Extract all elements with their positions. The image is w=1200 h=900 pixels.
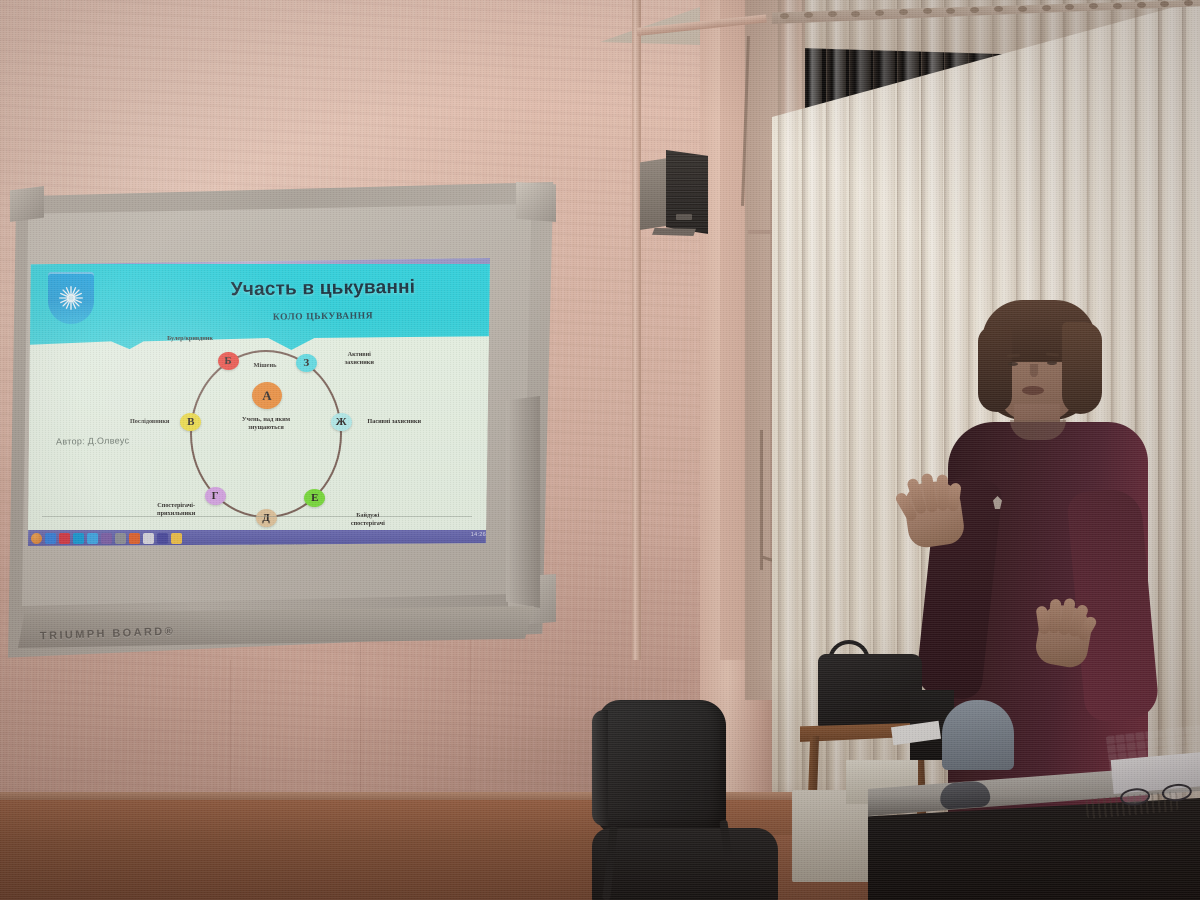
presentation-slide: Участь в цькуванні КОЛО ЦЬКУВАННЯ Автор:…	[28, 264, 490, 532]
presenter-eye-right	[1047, 361, 1057, 365]
blinds-hook	[875, 10, 884, 16]
presenter-eye-left	[1008, 362, 1018, 366]
diagram-label-Е: Байдужі спостерігачі	[339, 512, 397, 528]
blinds-hook	[804, 12, 813, 18]
diagram-node-Ж: Ж	[331, 413, 352, 431]
bullying-circle-diagram: ББулер/кривдникВПослідовникиГСпостерігач…	[148, 340, 388, 530]
slide-author: Автор: Д.Олвеус	[56, 435, 130, 446]
speaker-side-panel	[640, 158, 668, 230]
chair-seat	[592, 828, 778, 900]
app-icon-purple[interactable]	[101, 533, 112, 544]
presenter-mouth	[1022, 386, 1044, 395]
folder-icon[interactable]	[171, 533, 182, 544]
app-icon-indigo[interactable]	[157, 533, 168, 544]
speaker-mesh	[666, 150, 708, 234]
blinds-hook	[1113, 3, 1122, 9]
whiteboard-corner-top-right	[516, 182, 556, 222]
center-label-top: Мішень	[226, 362, 304, 370]
taskbar-clock: 14:26	[471, 532, 486, 538]
diagram-label-З: Активні захисники	[332, 351, 386, 367]
eyeglasses-lens-right	[1161, 782, 1193, 802]
school-emblem-logo	[48, 272, 94, 324]
blinds-hook	[780, 13, 789, 19]
edge-browser-icon[interactable]	[73, 533, 84, 544]
handbag[interactable]	[818, 654, 922, 730]
blind-slat	[778, 0, 798, 900]
diagram-node-center: А	[252, 382, 282, 409]
presenter-hair-right	[1062, 322, 1102, 414]
slide-footer-rule	[42, 516, 472, 517]
classroom-photo-scene: TRIUMPH BOARD®	[0, 0, 1200, 900]
app-icon-blue[interactable]	[45, 533, 56, 544]
slide-title: Участь в цькуванні	[178, 276, 468, 302]
taskbar-icons-group[interactable]	[31, 533, 182, 544]
cable	[760, 430, 763, 570]
chair-backrest	[598, 700, 726, 832]
wall-seam	[230, 660, 231, 800]
presenter-nose	[1030, 364, 1038, 377]
center-label-bottom: Учень, над яким знущаються	[227, 416, 305, 432]
eyeglasses-lens-left	[1119, 787, 1151, 807]
whiteboard-pen-tray[interactable]	[506, 396, 540, 608]
wall-speaker	[640, 150, 720, 235]
blinds-hook	[946, 8, 955, 14]
app-icon-red[interactable]	[59, 533, 70, 544]
app-icon-lightblue[interactable]	[87, 533, 98, 544]
whiteboard-corner-top-left	[10, 186, 44, 222]
diagram-label-Ж: Пасивні захисники	[367, 418, 421, 426]
diagram-label-Б: Булер/кривдник	[162, 335, 218, 343]
speaker-badge	[676, 214, 692, 220]
blinds-hook	[1018, 6, 1027, 12]
blinds-hook	[1042, 5, 1051, 11]
wall-conduit	[632, 0, 641, 660]
diagram-node-Д: Д	[256, 509, 277, 527]
wall-seam	[360, 640, 361, 800]
blinds-hook	[851, 11, 860, 17]
speaker-grille	[666, 150, 708, 234]
projected-screen[interactable]: Участь в цькуванні КОЛО ЦЬКУВАННЯ Автор:…	[28, 258, 490, 546]
app-icon-white[interactable]	[143, 533, 154, 544]
start-button[interactable]	[31, 533, 42, 544]
app-icon-orange[interactable]	[129, 533, 140, 544]
diagram-label-В: Послідовники	[121, 418, 179, 426]
diagram-node-Е: Е	[304, 489, 325, 507]
blinds-hook	[1137, 2, 1146, 8]
diagram-node-Г: Г	[205, 487, 226, 505]
speaker-bracket	[652, 228, 696, 236]
app-icon-gray[interactable]	[115, 533, 126, 544]
office-chair[interactable]	[592, 700, 772, 900]
chair-backrest-edge	[592, 710, 608, 826]
computer-mouse[interactable]	[939, 780, 991, 809]
presenter-hair-left	[978, 326, 1012, 412]
presenter-hand-left	[902, 478, 966, 549]
